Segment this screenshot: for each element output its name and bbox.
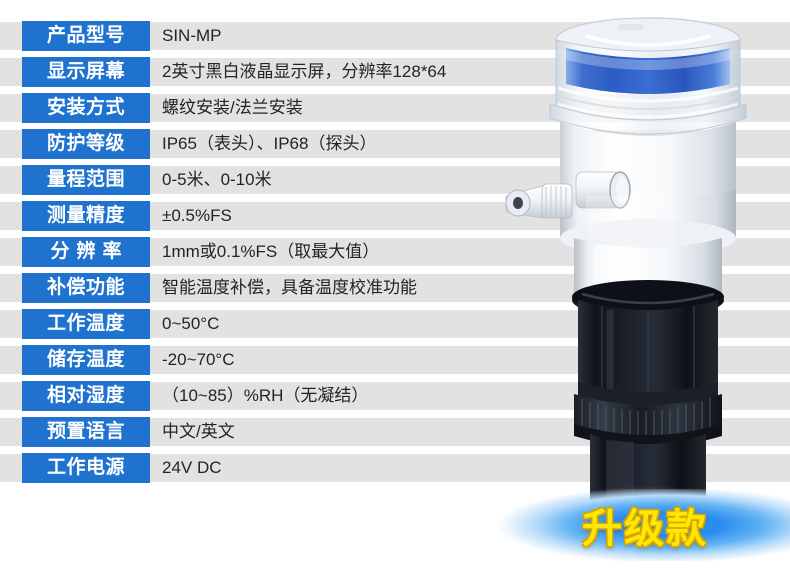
spec-label: 分辨率 xyxy=(22,237,150,267)
spec-row: 工作温度0~50°C xyxy=(0,310,790,338)
spec-label: 工作温度 xyxy=(22,309,150,339)
spec-row: 产品型号SIN-MP xyxy=(0,22,790,50)
spec-row: 防护等级IP65（表头）、IP68（探头） xyxy=(0,130,790,158)
spec-row: 相对湿度（10~85）%RH（无凝结） xyxy=(0,382,790,410)
spec-label: 工作电源 xyxy=(22,453,150,483)
spec-label: 相对湿度 xyxy=(22,381,150,411)
product-spec-page: 产品型号SIN-MP显示屏幕2英寸黑白液晶显示屏，分辨率128*64安装方式螺纹… xyxy=(0,0,790,572)
spec-row: 测量精度±0.5%FS xyxy=(0,202,790,230)
spec-value: ±0.5%FS xyxy=(162,202,232,230)
spec-label: 产品型号 xyxy=(22,21,150,51)
spec-value: 2英寸黑白液晶显示屏，分辨率128*64 xyxy=(162,58,446,86)
spec-value: 1mm或0.1%FS（取最大值） xyxy=(162,238,379,266)
spec-label: 防护等级 xyxy=(22,129,150,159)
spec-value: （10~85）%RH（无凝结） xyxy=(162,382,368,410)
spec-row: 安装方式螺纹安装/法兰安装 xyxy=(0,94,790,122)
spec-value: 24V DC xyxy=(162,454,222,482)
spec-row: 分辨率1mm或0.1%FS（取最大值） xyxy=(0,238,790,266)
spec-value: 螺纹安装/法兰安装 xyxy=(162,94,303,122)
badge-label: 升级款 xyxy=(466,489,790,561)
spec-value: 中文/英文 xyxy=(162,418,235,446)
spec-row: 显示屏幕2英寸黑白液晶显示屏，分辨率128*64 xyxy=(0,58,790,86)
spec-row: 预置语言中文/英文 xyxy=(0,418,790,446)
spec-row: 储存温度-20~70°C xyxy=(0,346,790,374)
spec-label: 量程范围 xyxy=(22,165,150,195)
spec-value: 0-5米、0-10米 xyxy=(162,166,272,194)
spec-label: 补偿功能 xyxy=(22,273,150,303)
spec-row: 补偿功能智能温度补偿，具备温度校准功能 xyxy=(0,274,790,302)
spec-label: 安装方式 xyxy=(22,93,150,123)
spec-label: 预置语言 xyxy=(22,417,150,447)
spec-value: -20~70°C xyxy=(162,346,234,374)
spec-row: 量程范围0-5米、0-10米 xyxy=(0,166,790,194)
spec-value: SIN-MP xyxy=(162,22,222,50)
spec-label: 测量精度 xyxy=(22,201,150,231)
spec-row: 工作电源24V DC xyxy=(0,454,790,482)
spec-value: IP65（表头）、IP68（探头） xyxy=(162,130,376,158)
spec-label: 储存温度 xyxy=(22,345,150,375)
spec-value: 智能温度补偿，具备温度校准功能 xyxy=(162,274,417,302)
spec-table: 产品型号SIN-MP显示屏幕2英寸黑白液晶显示屏，分辨率128*64安装方式螺纹… xyxy=(0,22,790,490)
spec-label: 显示屏幕 xyxy=(22,57,150,87)
upgrade-badge: 升级款 xyxy=(466,489,790,561)
spec-value: 0~50°C xyxy=(162,310,219,338)
